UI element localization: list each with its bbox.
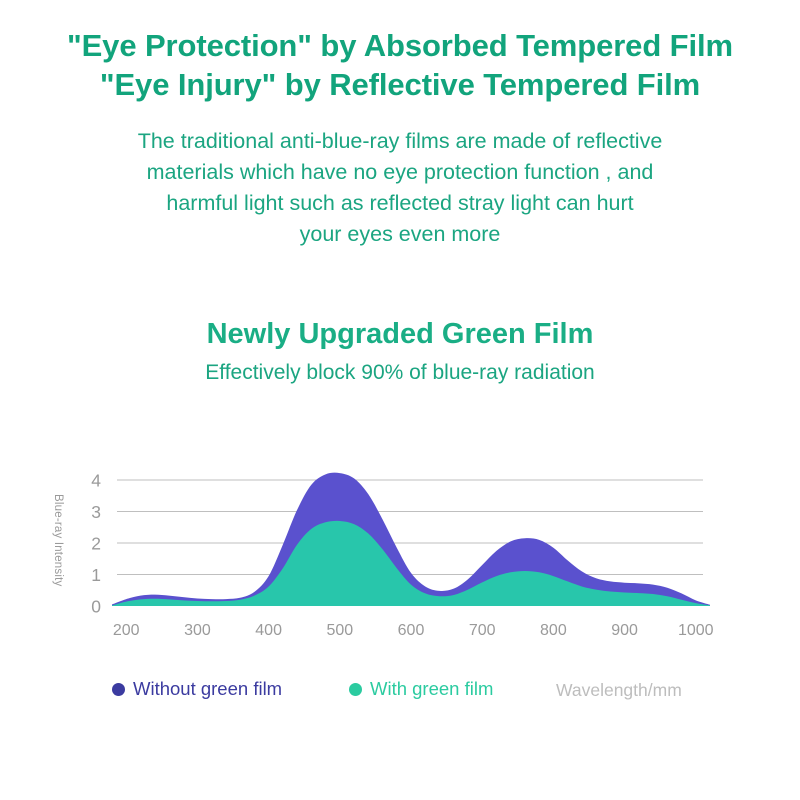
intro-line-1: The traditional anti-blue-ray films are …: [70, 126, 730, 157]
legend-dot-icon-with: [349, 683, 362, 696]
section-subtitle: Effectively block 90% of blue-ray radiat…: [0, 359, 800, 387]
x-axis-tick-label: 500: [326, 622, 353, 639]
intro-line-4: your eyes even more: [70, 219, 730, 250]
y-axis-tick-label: 2: [91, 534, 101, 554]
section-heading-block: Newly Upgraded Green Film Effectively bl…: [0, 316, 800, 387]
x-axis-tick-label: 400: [255, 622, 282, 639]
series-area-with-green-film: [112, 521, 710, 606]
headline-block: "Eye Protection" by Absorbed Tempered Fi…: [0, 0, 800, 104]
x-axis-tick-label: 600: [398, 622, 425, 639]
x-axis-tick-label: 700: [469, 622, 496, 639]
legend-item-without-green-film[interactable]: Without green film: [112, 678, 282, 700]
x-axis-tick-label: 800: [540, 622, 567, 639]
headline-line-1: "Eye Protection" by Absorbed Tempered Fi…: [0, 26, 800, 65]
x-axis-tick-label: 900: [611, 622, 638, 639]
y-axis-tick-label: 4: [91, 471, 101, 491]
intro-line-3: harmful light such as reflected stray li…: [70, 188, 730, 219]
chart-legend: Without green film With green film Wavel…: [0, 678, 800, 712]
headline-line-2: "Eye Injury" by Reflective Tempered Film: [0, 65, 800, 104]
x-axis-tick-label: 300: [184, 622, 211, 639]
x-axis-tick-label: 1000: [678, 622, 714, 639]
intro-line-2: materials which have no eye protection f…: [70, 157, 730, 188]
legend-label-without: Without green film: [133, 678, 282, 700]
y-axis-tick-label: 0: [91, 597, 101, 617]
x-axis-title: Wavelength/mm: [556, 680, 682, 701]
blue-light-film-infographic: "Eye Protection" by Absorbed Tempered Fi…: [0, 0, 800, 800]
legend-dot-icon-without: [112, 683, 125, 696]
legend-label-with: With green film: [370, 678, 493, 700]
y-axis-tick-label: 1: [91, 565, 101, 585]
y-axis-tick-label: 3: [91, 502, 101, 522]
intro-paragraph: The traditional anti-blue-ray films are …: [70, 126, 730, 250]
x-axis-tick-label: 200: [113, 622, 140, 639]
section-title: Newly Upgraded Green Film: [0, 316, 800, 352]
legend-item-with-green-film[interactable]: With green film: [349, 678, 493, 700]
